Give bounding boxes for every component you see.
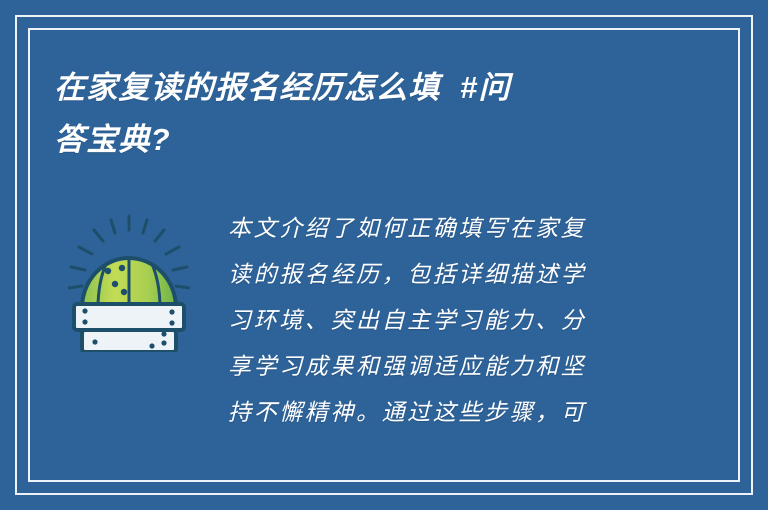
cactus-icon: [68, 212, 190, 352]
body-line-1: 本文介绍了如何正确填写在家复: [228, 206, 714, 252]
title-line-2: 答宝典?: [54, 114, 674, 166]
page-title: 在家复读的报名经历怎么填 #问 答宝典?: [54, 62, 674, 166]
poster-canvas: 在家复读的报名经历怎么填 #问 答宝典?: [0, 0, 768, 510]
pot-upper-band: [74, 304, 184, 330]
content-row: 本文介绍了如何正确填写在家复 读的报名经历，包括详细描述学 习环境、突出自主学习…: [54, 200, 714, 436]
body-line-3: 习环境、突出自主学习能力、分: [228, 298, 714, 344]
body-line-2: 读的报名经历，包括详细描述学: [228, 252, 714, 298]
body-line-4: 享学习成果和强调适应能力和坚: [228, 344, 714, 390]
cactus-illustration: [54, 200, 204, 352]
title-line-1: 在家复读的报名经历怎么填 #问: [54, 62, 674, 114]
body-paragraph: 本文介绍了如何正确填写在家复 读的报名经历，包括详细描述学 习环境、突出自主学习…: [204, 200, 714, 436]
body-line-5: 持不懈精神。通过这些步骤，可: [228, 390, 714, 436]
